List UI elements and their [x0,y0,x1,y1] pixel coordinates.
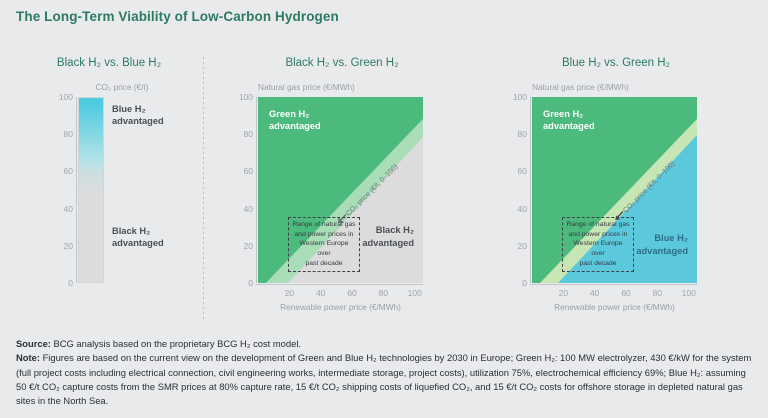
range-anno-line4-c2: past decade [305,260,342,267]
x-tick-chart3-60: 60 [621,288,630,298]
region-label-black-advantaged-chart2: Black H₂ advantaged [362,224,414,249]
region-label-black-line1-c2: Black H₂ [376,225,414,235]
x-tick-chart3-20: 20 [559,288,568,298]
footer-note-line: Note: Figures are based on the current v… [16,351,754,408]
chart-title-black-vs-green: Black H₂ vs. Green H₂ [222,57,462,69]
region-label-green-advantaged-chart3: Green H₂ advantaged [543,108,595,133]
region-label-blue-line1: Blue H₂ [112,104,146,114]
infographic-page: The Long-Term Viability of Low-Carbon Hy… [0,0,768,418]
footer-source-text: BCG analysis based on the proprietary BC… [51,338,301,349]
plot-area-chart1: 0 20 40 60 80 100 Blue H₂ advantaged Bla… [78,97,104,283]
x-tick-chart3-100: 100 [682,288,696,298]
chart-panel-black-vs-green: Black H₂ vs. Green H₂ Natural gas price … [222,57,462,283]
footer-notes: Source: BCG analysis based on the propri… [16,337,754,408]
range-anno-line1-c3: Range of natural gas [566,221,629,228]
y-axis-title-chart3: Natural gas price (€/MWh) [486,82,746,92]
range-anno-line3-c2: Western Europe over [300,240,349,257]
region-label-black-line2-c2: advantaged [362,238,414,248]
y-tick-chart2-40: 40 [244,204,253,214]
x-tick-chart3-40: 40 [590,288,599,298]
y-axis-line-chart1 [76,97,77,283]
region-label-black-line1: Black H₂ [112,226,150,236]
range-annotation-box-chart3: Range of natural gas and power prices in… [562,217,634,272]
region-label-green-line2-c2: advantaged [269,121,321,131]
region-label-green-advantaged-chart2: Green H₂ advantaged [269,108,321,133]
y-axis-line-chart2 [256,97,257,283]
plot-area-chart3: 0 20 40 60 80 100 20 40 60 80 100 Green … [532,97,697,283]
region-label-green-line2-c3: advantaged [543,121,595,131]
chart-panel-blue-vs-green: Blue H₂ vs. Green H₂ Natural gas price (… [486,57,746,283]
footer-source-label: Source: [16,338,51,349]
range-anno-line4-c3: past decade [579,260,616,267]
footer-note-label: Note: [16,352,40,363]
y-tick-chart3-20: 20 [518,241,527,251]
range-anno-line1-c2: Range of natural gas [292,221,355,228]
y-tick-chart2-80: 80 [244,129,253,139]
x-tick-chart2-20: 20 [285,288,294,298]
y-tick-chart2-0: 0 [248,278,253,288]
y-tick-chart3-100: 100 [513,92,527,102]
range-anno-line3-c3: Western Europe over [574,240,623,257]
y-tick-chart1-80: 80 [64,129,73,139]
plot-area-chart2: 0 20 40 60 80 100 20 40 60 80 100 Green … [258,97,423,283]
region-label-blue-line2: advantaged [112,116,164,126]
range-anno-line2-c3: and power prices in [569,231,628,238]
y-tick-chart2-20: 20 [244,241,253,251]
range-annotation-box-chart2: Range of natural gas and power prices in… [288,217,360,272]
x-tick-chart2-100: 100 [408,288,422,298]
y-tick-chart1-60: 60 [64,166,73,176]
y-tick-chart1-20: 20 [64,241,73,251]
x-axis-line-chart3 [530,284,697,285]
y-axis-title-chart1: CO₂ price (€/t) [18,82,200,92]
y-axis-title-chart2: Natural gas price (€/MWh) [222,82,462,92]
co2-price-gradient-bar [78,97,104,283]
chart-title-black-vs-blue: Black H₂ vs. Blue H₂ [18,57,200,69]
x-tick-chart2-80: 80 [379,288,388,298]
region-label-blue-line1-c3: Blue H₂ [654,233,688,243]
footer-source-line: Source: BCG analysis based on the propri… [16,337,754,351]
y-axis-line-chart3 [530,97,531,283]
region-label-blue-advantaged: Blue H₂ advantaged [112,103,164,128]
x-axis-title-chart3: Renewable power price (€/MWh) [532,302,697,312]
y-tick-chart1-0: 0 [68,278,73,288]
range-anno-line2-c2: and power prices in [295,231,354,238]
y-tick-chart3-80: 80 [518,129,527,139]
y-tick-chart3-60: 60 [518,166,527,176]
panel-divider [203,57,204,319]
x-axis-line-chart2 [256,284,423,285]
region-label-black-advantaged: Black H₂ advantaged [112,225,164,250]
chart-title-blue-vs-green: Blue H₂ vs. Green H₂ [486,57,746,69]
region-label-blue-line2-c3: advantaged [636,246,688,256]
y-tick-chart2-100: 100 [239,92,253,102]
footer-note-text: Figures are based on the current view on… [16,352,751,406]
y-tick-chart2-60: 60 [244,166,253,176]
x-axis-title-chart2: Renewable power price (€/MWh) [258,302,423,312]
y-tick-chart1-100: 100 [59,92,73,102]
region-label-blue-advantaged-chart3: Blue H₂ advantaged [636,232,688,257]
x-tick-chart2-40: 40 [316,288,325,298]
y-tick-chart3-0: 0 [522,278,527,288]
x-tick-chart3-80: 80 [653,288,662,298]
chart-panel-black-vs-blue: Black H₂ vs. Blue H₂ CO₂ price (€/t) 0 2… [18,57,200,283]
region-label-green-line1-c2: Green H₂ [269,109,309,119]
x-tick-chart2-60: 60 [347,288,356,298]
y-tick-chart3-40: 40 [518,204,527,214]
page-title: The Long-Term Viability of Low-Carbon Hy… [16,9,339,24]
region-label-green-line1-c3: Green H₂ [543,109,583,119]
y-tick-chart1-40: 40 [64,204,73,214]
region-label-black-line2: advantaged [112,238,164,248]
